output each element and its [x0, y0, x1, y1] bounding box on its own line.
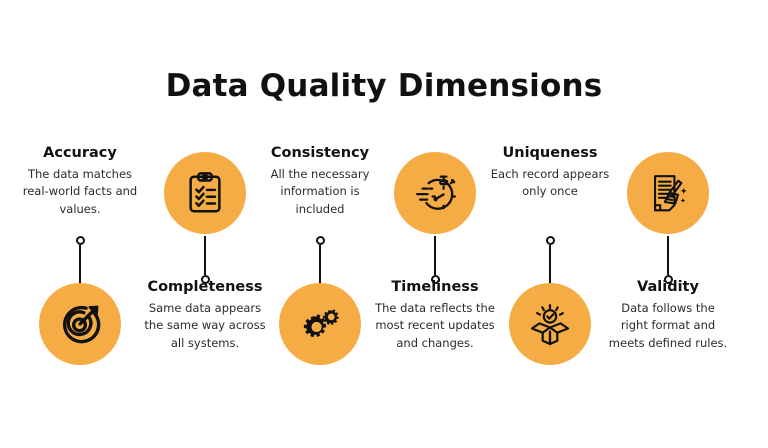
- accuracy-connector: [75, 236, 85, 284]
- completeness-connector: [200, 236, 210, 284]
- uniqueness-text-block: Uniqueness Each record appears only once: [488, 144, 612, 201]
- target-icon: [56, 300, 104, 348]
- completeness-heading: Completeness: [147, 278, 262, 296]
- dimension-column-validity: Validity Data follows the right format a…: [606, 140, 730, 390]
- connector-line: [667, 236, 669, 275]
- timeliness-text-block: Timeliness The data reflects the most re…: [373, 278, 497, 352]
- infographic-canvas: Data Quality Dimensions Accuracy The dat…: [0, 0, 768, 448]
- validity-icon-bubble[interactable]: [606, 152, 730, 234]
- uniqueness-icon-bubble[interactable]: [488, 283, 612, 365]
- timeliness-heading: Timeliness: [391, 278, 478, 296]
- validity-description: Data follows the right format and meets …: [606, 300, 730, 352]
- connector-line: [434, 236, 436, 275]
- completeness-icon-bubble[interactable]: [143, 152, 267, 234]
- accuracy-description: The data matches real-world facts and va…: [18, 166, 142, 218]
- uniqueness-heading: Uniqueness: [502, 144, 597, 162]
- uniqueness-connector: [545, 236, 555, 284]
- document-broom-icon: [645, 170, 691, 216]
- accuracy-icon-bubble[interactable]: [18, 283, 142, 365]
- document-broom-icon-bubble[interactable]: [627, 152, 709, 234]
- connector-dot: [546, 236, 555, 245]
- open-box-check-icon-bubble[interactable]: [509, 283, 591, 365]
- dimension-column-consistency: Consistency All the necessary informatio…: [258, 140, 382, 390]
- consistency-icon-bubble[interactable]: [258, 283, 382, 365]
- connector-line: [549, 245, 551, 284]
- completeness-description: Same data appears the same way across al…: [143, 300, 267, 352]
- clipboard-checklist-icon: [182, 170, 228, 216]
- timeliness-connector: [430, 236, 440, 284]
- page-title: Data Quality Dimensions: [0, 68, 768, 104]
- consistency-description: All the necessary information is include…: [258, 166, 382, 218]
- stopwatch-icon: [411, 169, 459, 217]
- consistency-connector: [315, 236, 325, 284]
- gears-icon-bubble[interactable]: [279, 283, 361, 365]
- validity-text-block: Validity Data follows the right format a…: [606, 278, 730, 352]
- connector-line: [204, 236, 206, 275]
- connector-line: [79, 245, 81, 284]
- dimension-column-uniqueness: Uniqueness Each record appears only once: [488, 140, 612, 390]
- timeliness-icon-bubble[interactable]: [373, 152, 497, 234]
- connector-dot: [316, 236, 325, 245]
- consistency-text-block: Consistency All the necessary informatio…: [258, 144, 382, 218]
- gears-icon: [296, 300, 344, 348]
- accuracy-text-block: Accuracy The data matches real-world fac…: [18, 144, 142, 218]
- connector-dot: [76, 236, 85, 245]
- target-icon-bubble[interactable]: [39, 283, 121, 365]
- uniqueness-description: Each record appears only once: [488, 166, 612, 201]
- timeliness-description: The data reflects the most recent update…: [373, 300, 497, 352]
- validity-heading: Validity: [637, 278, 699, 296]
- completeness-text-block: Completeness Same data appears the same …: [143, 278, 267, 352]
- dimension-column-accuracy: Accuracy The data matches real-world fac…: [18, 140, 142, 390]
- accuracy-heading: Accuracy: [43, 144, 117, 162]
- dimension-column-timeliness: Timeliness The data reflects the most re…: [373, 140, 497, 390]
- open-box-check-icon: [526, 300, 574, 348]
- consistency-heading: Consistency: [271, 144, 369, 162]
- dimension-column-completeness: Completeness Same data appears the same …: [143, 140, 267, 390]
- stopwatch-icon-bubble[interactable]: [394, 152, 476, 234]
- connector-line: [319, 245, 321, 284]
- clipboard-checklist-icon-bubble[interactable]: [164, 152, 246, 234]
- validity-connector: [663, 236, 673, 284]
